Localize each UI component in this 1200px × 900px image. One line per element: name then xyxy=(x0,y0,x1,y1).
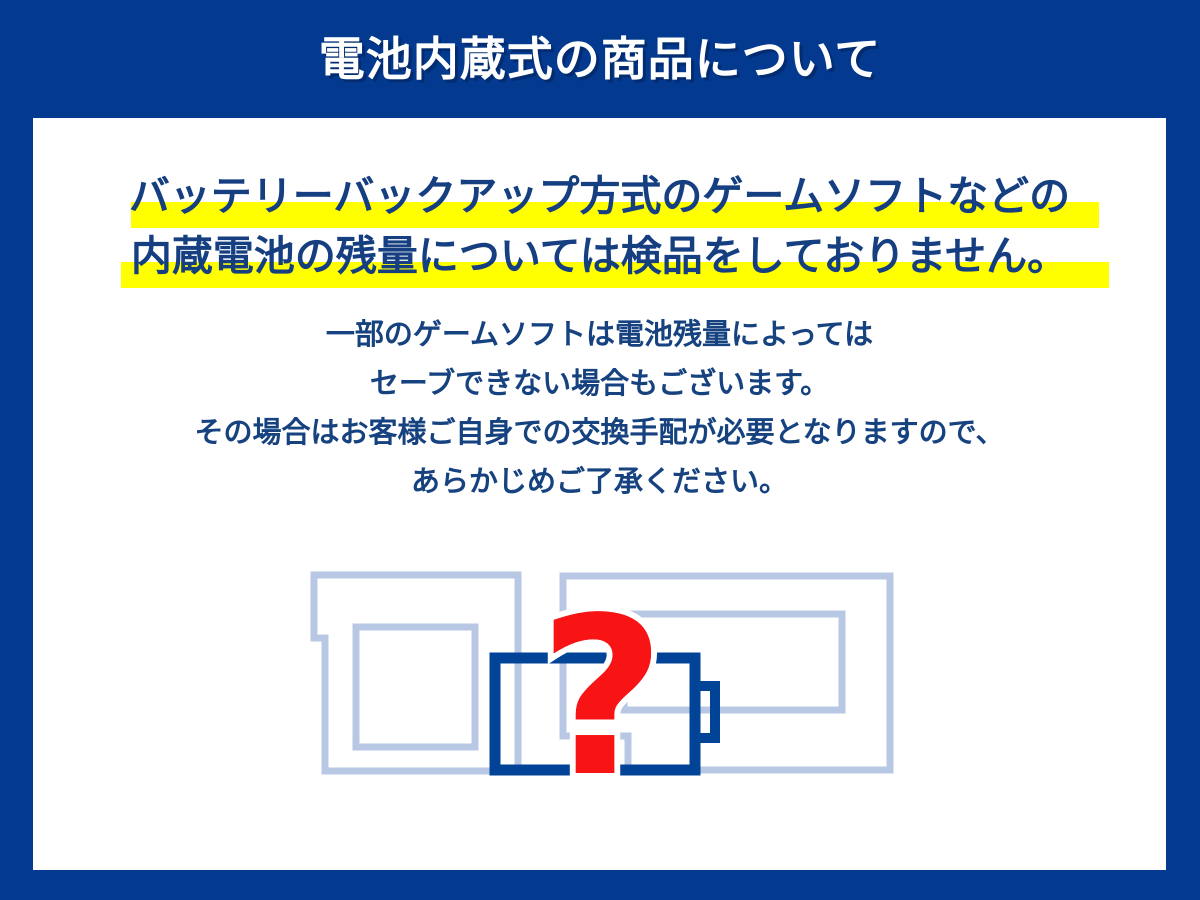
battery-cartridge-illustration: ? ? xyxy=(280,548,920,798)
header-banner: 電池内蔵式の商品について xyxy=(0,0,1200,118)
game-cartridge-left-icon xyxy=(314,575,518,771)
page-title: 電池内蔵式の商品について xyxy=(319,36,882,82)
body-line: あらかじめご了承ください。 xyxy=(33,457,1166,506)
body-line: セーブできない場合もございます。 xyxy=(33,359,1166,408)
svg-text:?: ? xyxy=(539,572,665,798)
content-card: バッテリーバックアップ方式のゲームソフトなどの 内蔵電池の残量については検品をし… xyxy=(33,118,1166,870)
highlighted-line-text: バッテリーバックアップ方式のゲームソフトなどの xyxy=(129,172,1070,220)
body-paragraph: 一部のゲームソフトは電池残量によっては セーブできない場合もございます。 その場… xyxy=(33,310,1166,506)
slide-root: 電池内蔵式の商品について バッテリーバックアップ方式のゲームソフトなどの 内蔵電… xyxy=(0,0,1200,900)
body-line: 一部のゲームソフトは電池残量によっては xyxy=(33,310,1166,359)
highlighted-notice: バッテリーバックアップ方式のゲームソフトなどの 内蔵電池の残量については検品をし… xyxy=(33,166,1166,286)
question-mark-icon: ? ? xyxy=(539,572,665,798)
highlighted-line: 内蔵電池の残量については検品をしておりません。 xyxy=(33,226,1166,286)
body-line: その場合はお客様ご自身での交換手配が必要となりますので、 xyxy=(33,408,1166,457)
highlighted-line: バッテリーバックアップ方式のゲームソフトなどの xyxy=(33,166,1166,226)
highlighted-line-text: 内蔵電池の残量については検品をしておりません。 xyxy=(131,232,1068,280)
